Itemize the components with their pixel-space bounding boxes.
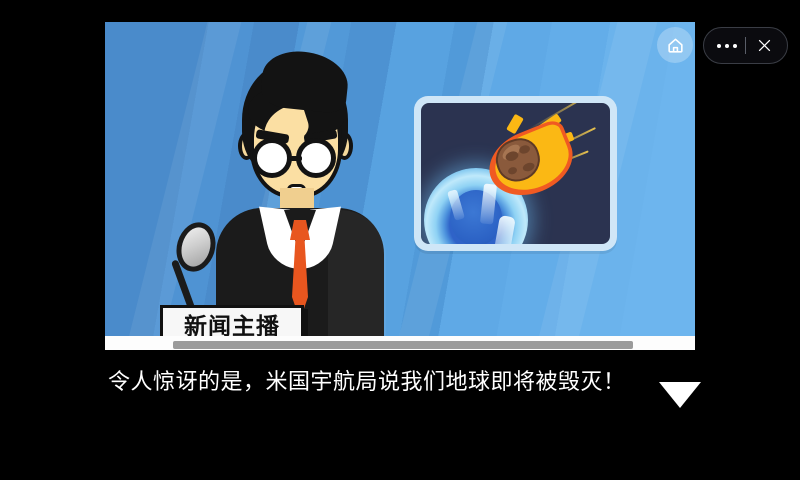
desk-edge	[173, 341, 633, 349]
triangle-down-icon[interactable]	[659, 382, 701, 408]
monitor-screen	[421, 103, 610, 244]
monitor-panel	[414, 96, 617, 251]
more-dots-icon[interactable]	[709, 44, 745, 48]
suit-shading	[328, 210, 386, 350]
rock-crater	[518, 144, 531, 155]
home-button[interactable]	[657, 27, 693, 63]
rock-crater	[522, 161, 536, 172]
news-desk	[105, 336, 695, 350]
miniprogram-capsule[interactable]	[703, 27, 788, 64]
close-x-icon	[756, 37, 773, 54]
home-icon	[666, 36, 685, 55]
app-root: 新闻主播 令人惊讶的是，米国宇航局说我们地球即将被毁灭！	[0, 0, 800, 480]
close-button[interactable]	[746, 37, 782, 54]
scene-illustration[interactable]: 新闻主播	[105, 22, 695, 350]
glasses-bridge	[290, 156, 302, 161]
glasses-lens-left	[252, 138, 292, 178]
glasses-lens-right	[296, 138, 336, 178]
dialogue-text[interactable]: 令人惊讶的是，米国宇航局说我们地球即将被毁灭！	[108, 368, 608, 398]
flaming-meteor-icon	[482, 115, 600, 201]
rock-crater	[507, 166, 518, 175]
